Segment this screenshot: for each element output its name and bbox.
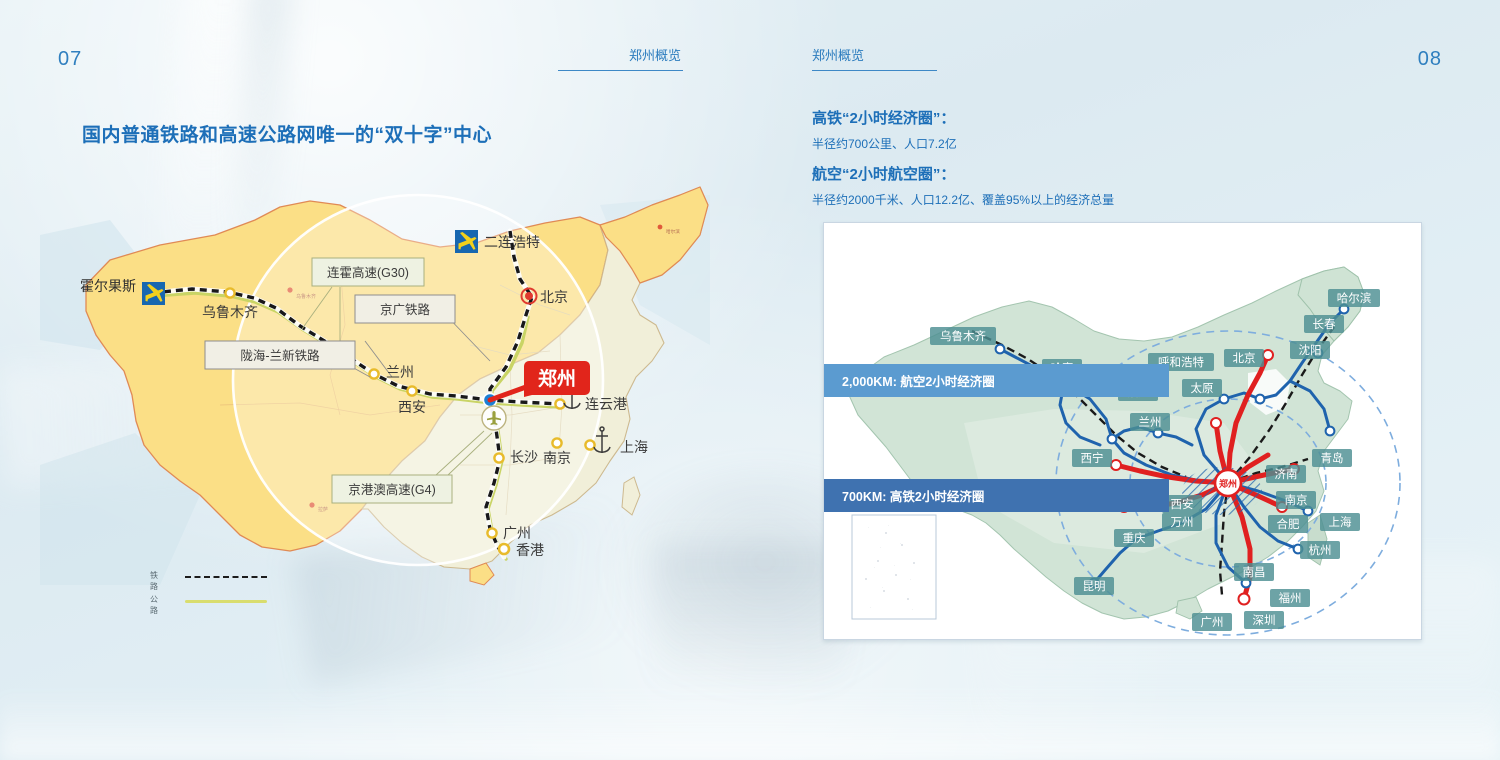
left-headline: 国内普通铁路和高速公路网唯一的“双十字”中心 [82, 120, 492, 147]
callout-jingguang: 京广铁路 [355, 295, 455, 323]
breadcrumb-left-label: 郑州概览 [558, 46, 683, 66]
callout-g30: 连霍高速(G30) [312, 258, 424, 286]
svg-text:济南: 济南 [1275, 467, 1298, 481]
svg-text:西宁: 西宁 [1081, 451, 1104, 465]
svg-text:昆明: 昆明 [1083, 580, 1106, 593]
svg-text:·: · [882, 586, 883, 590]
breadcrumb-left-rule [558, 70, 683, 71]
china-transport-map: 乌鲁木齐 拉萨 哈尔滨 [40, 165, 710, 595]
svg-text:乌鲁木齐: 乌鲁木齐 [940, 329, 986, 343]
breadcrumb-right-rule [812, 70, 937, 71]
svg-text:沈阳: 沈阳 [1299, 343, 1322, 357]
svg-text:重庆: 重庆 [1123, 531, 1146, 545]
hsr-block-detail: 半径约700公里、人口7.2亿 [812, 135, 957, 152]
svg-text:上海: 上海 [620, 439, 648, 455]
svg-text:广州: 广州 [503, 525, 531, 541]
svg-text:·: · [910, 578, 911, 582]
svg-text:·: · [868, 526, 869, 530]
svg-text:上海: 上海 [1329, 515, 1352, 529]
callout-longhai-lanxin: 陇海-兰新铁路 [205, 341, 355, 369]
svg-text:连霍高速(G30): 连霍高速(G30) [327, 265, 409, 280]
svg-text:二连浩特: 二连浩特 [484, 234, 540, 250]
svg-text:京港澳高速(G4): 京港澳高速(G4) [348, 482, 436, 497]
svg-text:哈尔滨: 哈尔滨 [1337, 291, 1372, 305]
south-china-sea-inset: ·· ·· ·· ·· ·· [852, 515, 936, 619]
ribbon-2000km: 2,000KM: 航空2小时经济圈 [824, 364, 1169, 397]
svg-text:·: · [870, 606, 871, 610]
svg-text:·: · [874, 566, 875, 570]
svg-text:青岛: 青岛 [1321, 451, 1344, 465]
svg-text:福州: 福州 [1279, 591, 1302, 605]
svg-text:郑州: 郑州 [1219, 478, 1237, 489]
ribbon-700km: 700KM: 高铁2小时经济圈 [824, 479, 1169, 512]
svg-text:杭州: 杭州 [1309, 543, 1332, 557]
svg-text:香港: 香港 [516, 542, 544, 558]
svg-text:北京: 北京 [540, 289, 568, 305]
page-number-right: 08 [1418, 48, 1442, 71]
svg-text:哈尔滨: 哈尔滨 [666, 228, 680, 235]
hsr-block-title: 高铁“2小时经济圈”： [812, 107, 957, 128]
zhengzhou-callout: 郑州 [524, 361, 590, 397]
air-block-detail: 半径约2000千米、人口12.2亿、覆盖95%以上的经济总量 [812, 191, 1114, 208]
svg-text:南京: 南京 [543, 450, 571, 466]
svg-text:南京: 南京 [1285, 493, 1308, 507]
economic-circle-map: 郑州 乌鲁木齐 哈密 西宁 兰州 银川 呼和浩特 太原 北京 哈尔滨 长春 沈阳… [823, 222, 1422, 640]
svg-text:长春: 长春 [1313, 318, 1336, 331]
svg-text:乌鲁木齐: 乌鲁木齐 [202, 304, 258, 320]
svg-text:西安: 西安 [398, 399, 426, 415]
breadcrumb-left: 郑州概览 [558, 46, 683, 71]
svg-text:2,000KM: 航空2小时经济圈: 2,000KM: 航空2小时经济圈 [842, 374, 995, 389]
svg-text:连云港: 连云港 [585, 396, 627, 412]
svg-text:南昌: 南昌 [1243, 565, 1266, 579]
airport-port-icon-erenhot [455, 230, 478, 253]
background-streak [0, 690, 1500, 760]
svg-text:万州: 万州 [1171, 516, 1194, 529]
page-number-left: 07 [58, 48, 82, 71]
svg-text:太原: 太原 [1191, 382, 1214, 395]
svg-text:长沙: 长沙 [510, 449, 538, 465]
svg-text:郑州: 郑州 [538, 368, 576, 390]
svg-text:兰州: 兰州 [1139, 416, 1162, 429]
svg-text:·: · [888, 524, 889, 528]
breadcrumb-right-label: 郑州概览 [812, 46, 937, 66]
svg-text:兰州: 兰州 [386, 364, 414, 380]
svg-text:合肥: 合肥 [1277, 517, 1300, 531]
legend-railway-label: 铁路 [150, 570, 158, 592]
air-block-title: 航空“2小时航空圈”： [812, 163, 1114, 184]
svg-text:700KM: 高铁2小时经济圈: 700KM: 高铁2小时经济圈 [842, 489, 984, 504]
air-economic-circle-block: 航空“2小时航空圈”： 半径约2000千米、人口12.2亿、覆盖95%以上的经济… [812, 163, 1114, 208]
callout-g4: 京港澳高速(G4) [332, 475, 452, 503]
legend-highway-swatch [185, 600, 267, 603]
svg-text:陇海-兰新铁路: 陇海-兰新铁路 [240, 348, 320, 363]
breadcrumb-right: 郑州概览 [812, 46, 937, 71]
svg-text:北京: 北京 [1233, 351, 1256, 365]
svg-text:·: · [880, 546, 881, 550]
svg-text:西安: 西安 [1171, 497, 1194, 511]
svg-text:广州: 广州 [1201, 616, 1224, 629]
legend-railway-swatch [185, 576, 267, 578]
svg-text:霍尔果斯: 霍尔果斯 [80, 278, 136, 294]
svg-text:京广铁路: 京广铁路 [380, 302, 431, 317]
svg-text:·: · [900, 542, 901, 546]
airport-port-icon-horgos [142, 282, 165, 305]
hsr-economic-circle-block: 高铁“2小时经济圈”： 半径约700公里、人口7.2亿 [812, 107, 957, 152]
svg-text:·: · [894, 564, 895, 568]
legend-highway-label: 公路 [150, 594, 158, 616]
svg-text:·: · [912, 608, 913, 612]
svg-text:深圳: 深圳 [1253, 613, 1276, 627]
